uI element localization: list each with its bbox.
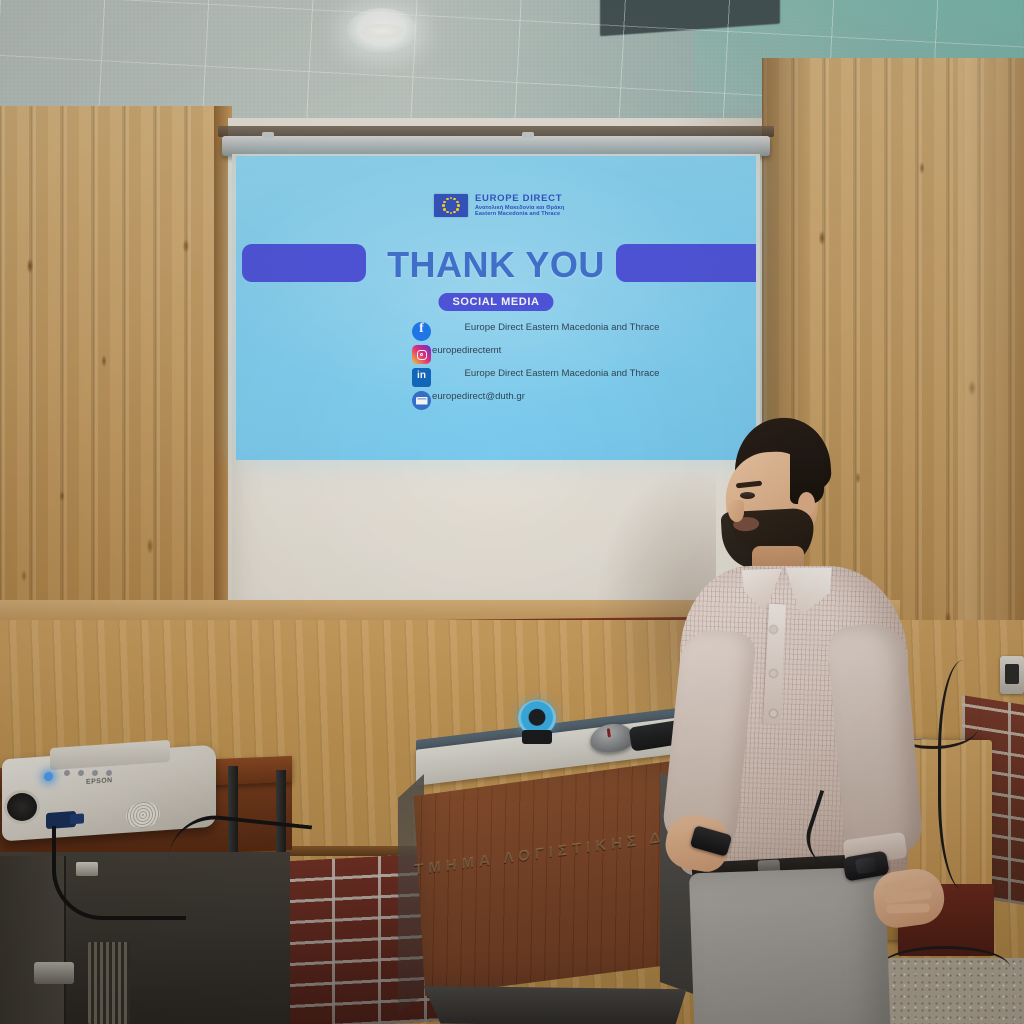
contact-handle: europedirectemt: [432, 345, 692, 357]
social-media-pill: SOCIAL MEDIA: [438, 293, 553, 311]
eu-star: [442, 204, 445, 207]
power-cable: [52, 826, 186, 920]
wall-cable: [938, 660, 1001, 890]
facebook-icon: [412, 322, 431, 341]
projector-lens: [4, 790, 40, 824]
screen-clip: [522, 132, 534, 138]
presenter-nose: [728, 500, 744, 522]
contact-row-email: europedirect@duth.gr: [236, 391, 756, 413]
eu-flag-icon: [434, 194, 468, 217]
presenter-finger: [886, 903, 930, 914]
eu-star: [457, 204, 460, 207]
shirt-button: [770, 710, 777, 717]
presenter-trousers: [689, 867, 891, 1024]
contact-handle: Europe Direct Eastern Macedonia and Thra…: [432, 322, 692, 334]
eu-star: [450, 197, 453, 200]
contact-row-linkedin: Europe Direct Eastern Macedonia and Thra…: [236, 368, 756, 390]
webcam-mount: [522, 730, 552, 744]
contact-list: Europe Direct Eastern Macedonia and Thra…: [236, 322, 756, 414]
europe-direct-logo: EUROPE DIRECT Ανατολική Μακεδονία και Θρ…: [434, 194, 564, 217]
shirt-button: [770, 626, 777, 633]
eu-star: [443, 201, 446, 204]
eu-star: [450, 212, 453, 215]
presenter: [648, 418, 938, 1024]
email-icon: [412, 391, 431, 410]
eu-star: [446, 211, 449, 214]
wall-outlet: [1000, 656, 1024, 694]
linkedin-icon: [412, 368, 431, 387]
recessed-ceiling-light: [346, 8, 418, 54]
eu-star: [456, 201, 459, 204]
webcam: [518, 700, 556, 744]
eu-star: [443, 208, 446, 211]
cabinet-vent-grille: [88, 942, 130, 1024]
presentation-room-photo: EUROPE DIRECT Ανατολική Μακεδονία και Θρ…: [0, 0, 1024, 1024]
eu-star: [446, 198, 449, 201]
eu-star: [453, 211, 456, 214]
cabinet-hinge: [34, 962, 74, 984]
shirt-button: [770, 670, 777, 677]
eu-star: [453, 198, 456, 201]
podium-cable: [437, 744, 562, 832]
presenter-eye: [740, 492, 755, 499]
logo-subtitle-greek: Ανατολική Μακεδονία και Θράκη: [475, 205, 564, 211]
logo-title: EUROPE DIRECT: [475, 194, 564, 205]
logo-subtitle-english: Eastern Macedonia and Thrace: [475, 211, 564, 217]
eu-star: [456, 208, 459, 211]
instagram-icon: [412, 345, 431, 364]
projected-slide: EUROPE DIRECT Ανατολική Μακεδονία και Θρ…: [236, 156, 756, 460]
contact-row-instagram: europedirectemt: [236, 345, 756, 367]
contact-handle: europedirect@duth.gr: [432, 391, 692, 403]
ceiling-dark-panel: [600, 0, 780, 36]
screen-clip: [262, 132, 274, 138]
contact-row-facebook: Europe Direct Eastern Macedonia and Thra…: [236, 322, 756, 344]
slide-heading: THANK YOU: [236, 244, 756, 286]
wall-panel-left: [0, 106, 228, 646]
screen-roller-housing: [222, 136, 770, 156]
contact-handle: Europe Direct Eastern Macedonia and Thra…: [432, 368, 692, 380]
